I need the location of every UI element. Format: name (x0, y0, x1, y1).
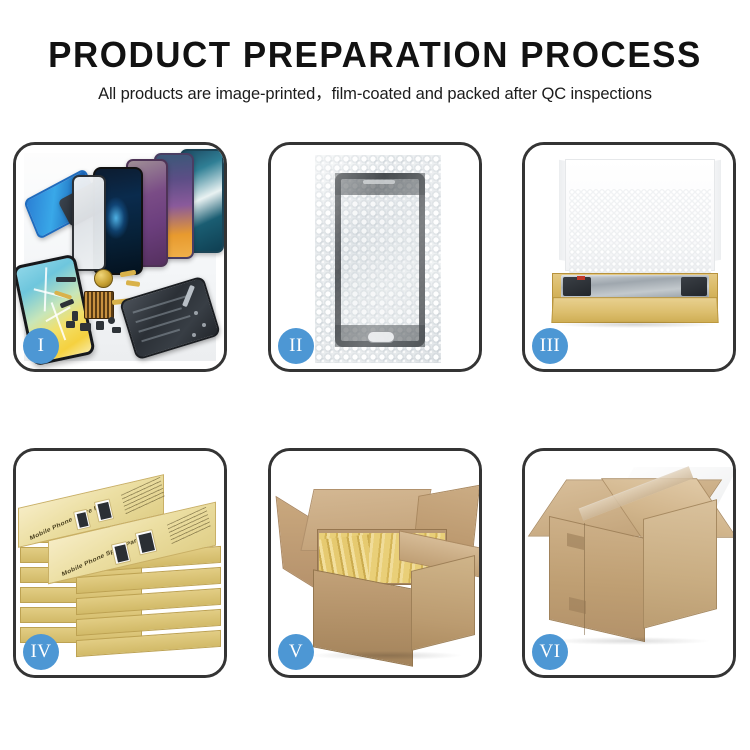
process-step-panel-1[interactable]: I (13, 142, 227, 372)
carton-side-face (411, 555, 475, 651)
box-spec-text-lines (121, 477, 165, 515)
step-badge-3: III (532, 328, 568, 364)
vibration-motor-part (94, 269, 113, 288)
step-badge-2: II (278, 328, 314, 364)
step-badge-6: VI (532, 634, 568, 670)
screen-protector-glass (72, 175, 106, 271)
screw-part (194, 311, 198, 315)
small-part (72, 311, 78, 321)
page-subtitle: All products are image-printed，film-coat… (0, 75, 750, 104)
carton-front-face (549, 516, 645, 642)
carton-drop-shadow (311, 651, 461, 660)
carton-seam-line (584, 523, 585, 635)
page-title: PRODUCT PREPARATION PROCESS (11, 0, 739, 75)
process-step-panel-2[interactable]: II (268, 142, 482, 372)
kraft-box-front-wall (551, 297, 718, 323)
box-product-image (94, 498, 114, 522)
process-step-panel-4[interactable]: Mobile Phone Spare Parts Mobile Phone Sp… (13, 448, 227, 678)
process-step-panel-3[interactable]: III (522, 142, 736, 372)
screw-part (192, 333, 196, 337)
screw-part (202, 323, 206, 327)
step-badge-4: IV (23, 634, 59, 670)
carton-drop-shadow (551, 637, 709, 645)
box-drop-shadow (555, 321, 715, 328)
step-badge-1: I (23, 328, 59, 364)
home-button (367, 331, 395, 343)
ic-chip-array-part (84, 291, 114, 319)
box-product-image (135, 529, 158, 555)
red-label-mark (577, 276, 585, 280)
process-step-grid: I II III (13, 142, 737, 678)
white-foam-padding (569, 189, 711, 277)
small-part (66, 321, 75, 328)
button-part (108, 317, 115, 324)
box-spec-text-lines (167, 507, 211, 545)
screen-top-bezel (335, 173, 425, 195)
phone-wallpaper-glow (103, 197, 129, 239)
process-step-panel-6[interactable]: VI (522, 448, 736, 678)
small-part (80, 323, 91, 331)
wrapped-phone-screen (335, 173, 425, 347)
page-header: PRODUCT PREPARATION PROCESS All products… (0, 0, 750, 104)
carton-side-face (643, 499, 717, 629)
product-end-right (681, 277, 707, 296)
step-badge-5: V (278, 634, 314, 670)
connector-part (56, 277, 76, 282)
small-part (96, 321, 104, 330)
crack-line (44, 267, 47, 311)
small-part (112, 327, 121, 333)
process-step-panel-5[interactable]: V (268, 448, 482, 678)
earpiece-slot (363, 180, 395, 184)
